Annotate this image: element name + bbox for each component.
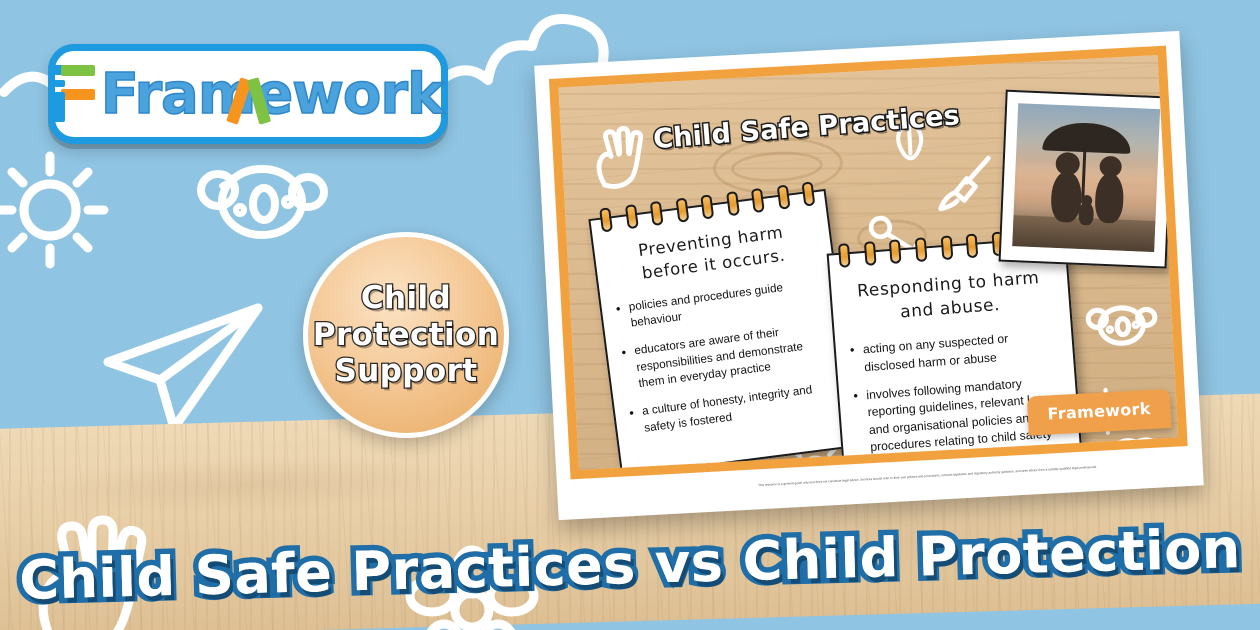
paper-plane-doodle	[100, 290, 270, 440]
koala-doodle	[1083, 293, 1160, 355]
logo-vee-accent	[227, 78, 279, 122]
figure-body	[1050, 170, 1082, 223]
cloud-doodle	[1086, 433, 1176, 480]
notepad-heading: Responding to harm and abuse.	[845, 265, 1054, 329]
badge-line-1: Child	[361, 281, 451, 316]
notepad-preventing-harm[interactable]: Preventing harm before it occurs. polici…	[588, 189, 858, 477]
logo-f-mark	[53, 63, 99, 125]
framework-tag[interactable]: Framework	[1027, 389, 1172, 436]
koala-doodle	[196, 152, 326, 252]
badge-line-3: Support	[335, 354, 478, 389]
resource-preview-card[interactable]: Child Safe Practices Preventing harm bef…	[534, 31, 1204, 520]
list-item: acting on any suspected or disclosed har…	[849, 327, 1057, 377]
sun-doodle	[0, 150, 110, 270]
child-protection-support-badge[interactable]: Child Protection Support	[303, 232, 509, 438]
poster-stage: Framework Child Protection Support	[0, 0, 1260, 630]
figure-body-small	[1079, 202, 1094, 225]
card-title: Child Safe Practices	[652, 100, 961, 155]
paintbrush-doodle	[931, 152, 1000, 217]
framework-logo[interactable]: Framework	[48, 44, 448, 144]
umbrella-shape	[1042, 121, 1131, 153]
polaroid-photo[interactable]	[999, 90, 1174, 269]
notepad-responding-to-harm[interactable]: Responding to harm and abuse. acting on …	[827, 236, 1089, 480]
umbrella-family-photo	[1012, 103, 1160, 252]
hand-doodle	[587, 124, 656, 189]
card-wood-frame: Child Safe Practices Preventing harm bef…	[549, 46, 1188, 480]
notepad-bullet-list: policies and procedures guide behaviour …	[615, 275, 836, 438]
badge-line-2: Protection	[313, 318, 499, 353]
